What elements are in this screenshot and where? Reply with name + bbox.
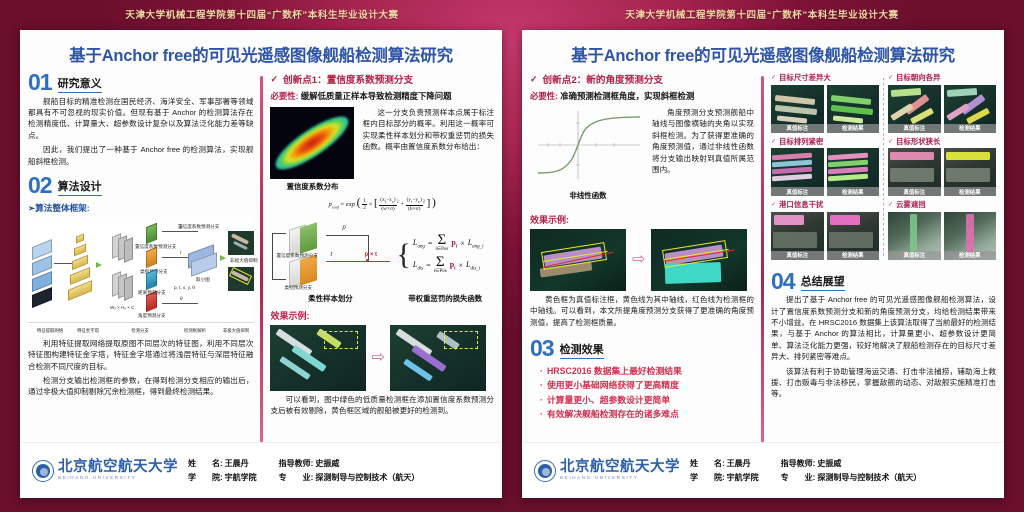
flow-caption: 柔性样本划分 [270, 293, 390, 304]
case-image-gt: 真值标注 [888, 85, 941, 133]
necessity-value: 缓解低质量正样本导致检测精度下降问题 [301, 91, 452, 101]
university-seal-icon [32, 460, 54, 482]
case-label: 真值标注 [888, 187, 941, 196]
architecture-diagram: 置信度系数预测分支 类别预测分支 距离预测分支 角度预测分支 Wₓ × Hₓ ×… [28, 217, 253, 335]
loss-sub-dis: i∈Pos [434, 268, 447, 274]
flow-label-p: p [342, 225, 345, 231]
student-name-key: 姓 名: [690, 458, 725, 469]
case-image-pair: 真值标注 检测结果 [771, 148, 879, 196]
student-name-key: 姓 名: [188, 458, 223, 469]
major-value: 探测制导与控制技术（航天） [817, 472, 921, 483]
innovation-2-effect-text: 黄色框为真值标注框，黄色线为其中轴线，红色线为检测框的中轴线。可以看到，本文所提… [530, 294, 754, 328]
arch-conv-upper-3 [124, 237, 133, 263]
loss-row-dis: Ldis = Σ i∈Pos pi × Ldis_i [413, 257, 484, 274]
case-label: 检测结果 [827, 187, 880, 196]
arch-arrow-2 [220, 255, 226, 261]
arch-stage-label-1: 特征提取网络 [28, 328, 72, 334]
advisor-value: 史振威 [817, 458, 841, 469]
major-row: 专 业: 探测制导与控制技术（航天） [279, 472, 420, 483]
advisor-key: 指导教师: [781, 458, 816, 469]
banner-right: 天津大学机械工程学院第十四届“广数杯”本科生毕业设计大赛 [514, 0, 1010, 28]
left-column-a: 01 研究意义 舰船目标的精准检测在国民经济、海洋安全、军事部署等领域都具有不可… [28, 72, 253, 454]
flow-line-pt [326, 261, 390, 262]
major-value: 探测制导与控制技术（航天） [315, 472, 419, 483]
innovation-1-formulas: 置信度系数预测分支 类别预测分支 p t p × t [270, 219, 494, 304]
student-college-key: 学 院: [188, 472, 223, 483]
case-label: 真值标注 [771, 187, 824, 196]
innovation-1-necessity: 必要性: 缓解低质量正样本导致检测精度下降问题 [270, 90, 494, 102]
case-title: 目标朝向各异 [896, 72, 940, 83]
section-01-paragraph-1: 舰船目标的精准检测在国民经济、海洋安全、军事部署等领域都具有不可忽视的现实价值。… [28, 96, 253, 142]
case-image-pair: 真值标注 检测结果 [888, 148, 996, 196]
student-college-row: 学 院: 宇航学院 [188, 472, 257, 483]
loss-caption: 带权重惩罚的损失函数 [396, 293, 494, 304]
university-seal-icon [534, 460, 556, 482]
arch-branch-label-dis: 距离预测分支 [138, 290, 166, 296]
left-column-b: ✓ 创新点1：置信度系数预测分支 必要性: 缓解低质量正样本导致检测精度下降问题… [270, 72, 494, 454]
case-header: ✓ 云雾遮挡 [888, 199, 996, 210]
arch-stage-label-3: 检测分支 [118, 328, 162, 334]
flow-label-t: t [330, 252, 332, 258]
section-01-number: 01 [28, 72, 52, 93]
advisor-row: 指导教师: 史振威 [781, 458, 922, 469]
section-02-name: 算法设计 [58, 178, 102, 196]
advisor-key: 指导教师: [279, 458, 314, 469]
loss-row-ang: Lang = Σ i∈Pos pi × Lang_i [413, 235, 484, 252]
case-title: 港口信息干扰 [779, 199, 823, 210]
flow-slab-conf [300, 222, 317, 254]
sigmoid-figure-wrap: 非线性函数 [530, 107, 646, 201]
effect-before-image-1 [270, 325, 366, 391]
case-grid-dotted-divider [883, 78, 884, 257]
necessity-key: 必要性: [530, 91, 558, 101]
section-04-name: 总结展望 [801, 273, 845, 291]
case-slot-cloud: ✓ 云雾遮挡 真值标注 检测结果 [888, 199, 996, 260]
arch-stage-label-2: 特征金字塔 [68, 328, 108, 334]
arch-line-in [54, 263, 72, 264]
case-label: 检测结果 [827, 124, 880, 133]
arch-param-t: t [180, 250, 181, 255]
university-logo: 北京航空航天大学 BEIHANG UNIVERSITY [32, 460, 178, 482]
check-icon: ✓ [771, 74, 776, 81]
check-icon: ✓ [888, 138, 893, 145]
arch-nms-label: 非极大值抑制 [230, 258, 258, 264]
innovation-2-paragraph: 角度预测分支预测舰船中轴线与图像横轴的夹角以实现斜框检测。为了获得更准确的角度预… [652, 107, 754, 175]
heatmap-blob [270, 108, 354, 178]
innovation-1-title: 创新点1：置信度系数预测分支 [283, 72, 413, 86]
poster-right-title: 基于Anchor free的可见光遥感图像舰船检测算法研究 [532, 42, 994, 66]
innovation-1-effect-images: ⇨ [270, 325, 494, 391]
case-label: 检测结果 [944, 124, 997, 133]
section-02-paragraph-2: 检测分支输出检测框的参数，在得到检测分支相应的输出后，通过非极大值抑制剔除冗余检… [28, 375, 253, 398]
check-icon: ✓ [530, 74, 538, 85]
list-item: HRSC2016 数据集上最好检测结果 [540, 364, 754, 379]
poster-right-columns: ✓ 创新点2：新的角度预测分支 必要性: 准确预测检测框角度，实现斜框检测 [522, 72, 1004, 454]
major-key: 专 业: [781, 472, 816, 483]
case-image-pair: 真值标注 检测结果 [888, 85, 996, 133]
section-02-subheading: ➢算法整体框架: [28, 202, 253, 214]
case-header: ✓ 目标排列紧密 [771, 136, 879, 147]
section-04-paragraph-1: 提出了基于 Anchor free 的可见光遥感图像舰船检测算法，设计了置信度系… [771, 294, 996, 362]
section-01-header: 01 研究意义 [28, 72, 253, 93]
case-header: ✓ 目标尺寸差异大 [771, 72, 879, 83]
case-image-det: 检测结果 [827, 85, 880, 133]
case-header: ✓ 港口信息干扰 [771, 199, 879, 210]
student-meta: 姓 名: 王晨丹 学 院: 宇航学院 指导教师: 史振威 专 业: [188, 456, 419, 486]
case-slot-slender: ✓ 目标形状狭长 真值标注 [888, 136, 996, 197]
necessity-value: 准确预测检测框角度，实现斜框检测 [560, 91, 694, 101]
effect-before-image-2 [530, 229, 626, 291]
advisor-row: 指导教师: 史振威 [279, 458, 420, 469]
flex-sample-split-figure: 置信度系数预测分支 类别预测分支 p t p × t [270, 219, 396, 291]
loss-formula-wrap: { Lang = Σ i∈Pos pi × Lang_i [396, 219, 494, 304]
case-title: 目标形状狭长 [896, 136, 940, 147]
flow-bracket-top [272, 233, 286, 234]
brace-icon: { [396, 246, 410, 264]
student-meta-col-2: 指导教师: 史振威 专 业: 探测制导与控制技术（航天） [781, 456, 922, 486]
left-poster-divider [260, 76, 263, 444]
left-footer: 北京航空航天大学 BEIHANG UNIVERSITY 姓 名: 王晨丹 学 院… [20, 442, 502, 498]
poster-left-columns: 01 研究意义 舰船目标的精准检测在国民经济、海洋安全、军事部署等领域都具有不可… [20, 72, 502, 454]
section-01-name: 研究意义 [58, 75, 102, 93]
case-image-gt: 真值标注 [771, 148, 824, 196]
right-column-a: ✓ 创新点2：新的角度预测分支 必要性: 准确预测检测框角度，实现斜框检测 [530, 72, 754, 454]
flex-sample-split-wrap: 置信度系数预测分支 类别预测分支 p t p × t [270, 219, 390, 304]
case-grid-col-right: ✓ 目标朝向各异 真值标注 [888, 72, 996, 263]
arch-line-theta [162, 303, 198, 304]
case-title: 目标尺寸差异大 [779, 72, 831, 83]
case-grid-col-left: ✓ 目标尺寸差异大 真值标注 [771, 72, 879, 263]
check-icon: ✓ [270, 74, 278, 85]
check-icon: ✓ [771, 138, 776, 145]
innovation-2-effect-label: 效果示例: [530, 213, 754, 226]
section-03-bullets: HRSC2016 数据集上最好检测结果 使用更小基础网络获得了更高精度 计算量更… [540, 364, 754, 422]
arch-line-p [162, 231, 198, 232]
case-label: 真值标注 [888, 124, 941, 133]
case-image-pair: 真值标注 检测结果 [771, 85, 879, 133]
case-label: 真值标注 [771, 251, 824, 260]
arch-result-top [228, 231, 254, 255]
loss-equations: Lang = Σ i∈Pos pi × Lang_i Ldis = [413, 230, 484, 279]
innovation-1-text-wrap: 这一分支负责预测样本点属于标注框内目标部分的概率。利用这一概率可实现柔性样本划分… [362, 107, 494, 153]
heatmap-caption: 置信度系数分布 [270, 181, 354, 192]
innovation-2-header: ✓ 创新点2：新的角度预测分支 [530, 72, 754, 86]
loss-sub-ang: i∈Pos [435, 246, 448, 252]
banner-left: 天津大学机械工程学院第十四届“广数杯”本科生毕业设计大赛 [14, 0, 510, 28]
major-row: 专 业: 探测制导与控制技术（航天） [781, 472, 922, 483]
student-name-row: 姓 名: 王晨丹 [690, 458, 759, 469]
arrow-right-icon: ⇨ [371, 350, 384, 366]
student-college-value: 宇航学院 [727, 472, 759, 483]
arch-stage-label-5: 非极大值抑制 [214, 328, 258, 334]
poster-left-title: 基于Anchor free的可见光遥感图像舰船检测算法研究 [30, 42, 492, 66]
case-slot-dense: ✓ 目标排列紧密 真值标注 [771, 136, 879, 197]
section-03-header: 03 检测效果 [530, 338, 754, 359]
case-label: 检测结果 [944, 187, 997, 196]
flow-label-pt: p × t [364, 252, 377, 258]
university-name: 北京航空航天大学 BEIHANG UNIVERSITY [58, 460, 178, 480]
effect-after-image-1 [390, 325, 486, 391]
section-02-number: 02 [28, 175, 52, 196]
section-04-paragraph-2: 该算法有利于协助管理海运交通、打击非法捕捞，辅助海上救援、打击贩毒与非法移民，掌… [771, 366, 996, 400]
innovation-1-paragraph: 这一分支负责预测样本点属于标注框内目标部分的概率。利用这一概率可实现柔性样本划分… [362, 107, 494, 153]
innovation-2-text-wrap: 角度预测分支预测舰船中轴线与图像横轴的夹角以实现斜框检测。为了获得更准确的角度预… [652, 107, 754, 175]
student-meta: 姓 名: 王晨丹 学 院: 宇航学院 指导教师: 史振威 专 业: [690, 456, 921, 486]
right-footer: 北京航空航天大学 BEIHANG UNIVERSITY 姓 名: 王晨丹 学 院… [522, 442, 1004, 498]
arch-param-theta: θ [180, 296, 183, 301]
case-image-pair: 真值标注 检测结果 [888, 212, 996, 260]
innovation-2-body: 非线性函数 角度预测分支预测舰船中轴线与图像横轴的夹角以实现斜框检测。为了获得更… [530, 107, 754, 201]
poster-stage: 天津大学机械工程学院第十四届“广数杯”本科生毕业设计大赛 天津大学机械工程学院第… [0, 0, 1024, 512]
arch-branch-label-ang: 角度预测分支 [138, 313, 166, 319]
arch-branch-label-conf: 置信度系数预测分支 [135, 244, 176, 250]
innovation-2-effect-images: ⇨ [530, 229, 754, 291]
case-image-det: 检测结果 [944, 85, 997, 133]
university-logo: 北京航空航天大学 BEIHANG UNIVERSITY [534, 460, 680, 482]
arch-stage-strip [28, 322, 253, 323]
nonlinear-function-curve [530, 107, 646, 183]
student-college-row: 学 院: 宇航学院 [690, 472, 759, 483]
innovation-1-body: 置信度系数分布 这一分支负责预测样本点属于标注框内目标部分的概率。利用这一概率可… [270, 107, 494, 192]
arch-stage-label-4: 检测框解析 [173, 328, 217, 334]
flow-label-conf: 置信度系数预测分支 [276, 253, 317, 259]
arch-pyramid-1 [76, 233, 84, 243]
right-poster-divider [761, 76, 764, 444]
effect-after-image-2 [651, 229, 747, 291]
case-image-det: 检测结果 [944, 148, 997, 196]
case-image-det: 检测结果 [827, 212, 880, 260]
right-column-b: ✓ 目标尺寸差异大 真值标注 [771, 72, 996, 454]
university-name-cn: 北京航空航天大学 [560, 460, 680, 475]
confidence-formula: pconf = exp ( 12 × [ (xi−xc)(w×σ)2 + (yi… [270, 195, 494, 212]
university-name-en: BEIHANG UNIVERSITY [560, 476, 680, 481]
case-slot-size: ✓ 目标尺寸差异大 真值标注 [771, 72, 879, 133]
case-image-det: 检测结果 [827, 148, 880, 196]
poster-right: 基于Anchor free的可见光遥感图像舰船检测算法研究 ✓ 创新点2：新的角… [522, 30, 1004, 498]
check-icon: ✓ [888, 74, 893, 81]
section-01-paragraph-2: 因此，我们提出了一种基于 Anchor free 的检测算法，实现舰船斜框检测。 [28, 144, 253, 167]
innovation-1-effect-label: 效果示例: [270, 309, 494, 322]
case-grid: ✓ 目标尺寸差异大 真值标注 [771, 72, 996, 263]
university-name-cn: 北京航空航天大学 [58, 460, 178, 475]
case-image-gt: 真值标注 [771, 85, 824, 133]
check-icon: ✓ [888, 201, 893, 208]
heatmap-figure-wrap: 置信度系数分布 [270, 107, 354, 192]
section-04-number: 04 [771, 271, 795, 292]
student-meta-col-2: 指导教师: 史振威 专 业: 探测制导与控制技术（航天） [279, 456, 420, 486]
arch-branch-conf [146, 222, 157, 243]
case-label: 检测结果 [944, 251, 997, 260]
arch-param-p: p [180, 224, 183, 229]
arch-label-p: 置信度系数预测分支 [178, 224, 219, 230]
case-slot-orientation: ✓ 目标朝向各异 真值标注 [888, 72, 996, 133]
case-header: ✓ 目标形状狭长 [888, 136, 996, 147]
section-03-name: 检测效果 [560, 341, 604, 359]
case-title: 云雾遮挡 [896, 199, 926, 210]
flow-label-cls: 类别预测分支 [284, 285, 312, 291]
innovation-2-title: 创新点2：新的角度预测分支 [543, 72, 663, 86]
university-name-en: BEIHANG UNIVERSITY [58, 476, 178, 481]
student-college-key: 学 院: [690, 472, 725, 483]
case-image-gt: 真值标注 [888, 212, 941, 260]
section-04-header: 04 总结展望 [771, 271, 996, 292]
section-02-paragraph-1: 利用特征提取网络提取原图不同层次的特征图，利用不同层次特征图构建特征金字塔，特征… [28, 338, 253, 372]
poster-left: 基于Anchor free的可见光遥感图像舰船检测算法研究 01 研究意义 舰船… [20, 30, 502, 498]
arch-result-bottom [228, 267, 254, 291]
major-key: 专 业: [279, 472, 314, 483]
case-image-gt: 真值标注 [888, 148, 941, 196]
innovation-1-header: ✓ 创新点1：置信度系数预测分支 [270, 72, 494, 86]
student-meta-col-1: 姓 名: 王晨丹 学 院: 宇航学院 [188, 456, 257, 486]
university-name: 北京航空航天大学 BEIHANG UNIVERSITY [560, 460, 680, 480]
case-slot-port: ✓ 港口信息干扰 真值标注 [771, 199, 879, 260]
list-item: 计算量更小、超参数设计更简单 [540, 393, 754, 408]
sigmoid-caption: 非线性函数 [530, 190, 646, 201]
case-image-pair: 真值标注 检测结果 [771, 212, 879, 260]
advisor-value: 史振威 [315, 458, 339, 469]
flow-bracket [272, 233, 273, 279]
section-03-number: 03 [530, 338, 554, 359]
student-name-value: 王晨丹 [225, 458, 249, 469]
innovation-1-effect-text: 可以看到，图中绿色的低质量检测框在添加置信度系数预测分支后被有效剔除，黄色框区域… [270, 394, 494, 417]
necessity-key: 必要性: [270, 91, 298, 101]
section-02-header: 02 算法设计 [28, 175, 253, 196]
list-item: 有效解决舰船检测存在的诸多难点 [540, 407, 754, 422]
student-college-value: 宇航学院 [225, 472, 257, 483]
case-image-det: 检测结果 [944, 212, 997, 260]
loss-formula: { Lang = Σ i∈Pos pi × Lang_i [396, 219, 494, 291]
student-meta-col-1: 姓 名: 王晨丹 学 院: 宇航学院 [690, 456, 759, 486]
arch-param-list: p, t, x, y, θ [174, 285, 195, 290]
arch-decode-label: 取小图 [196, 277, 210, 283]
arch-branch-dis [146, 268, 157, 289]
case-label: 真值标注 [771, 124, 824, 133]
student-name-value: 王晨丹 [727, 458, 751, 469]
case-image-gt: 真值标注 [771, 212, 824, 260]
innovation-2-necessity: 必要性: 准确预测检测框角度，实现斜框检测 [530, 90, 754, 102]
flow-bracket-bottom [272, 279, 286, 280]
case-header: ✓ 目标朝向各异 [888, 72, 996, 83]
list-item: 使用更小基础网络获得了更高精度 [540, 378, 754, 393]
arch-pyramid-2 [74, 243, 86, 256]
arch-arrow-1 [96, 262, 102, 268]
arch-conv-lower-3 [124, 275, 133, 301]
case-title: 目标排列紧密 [779, 136, 823, 147]
check-icon: ✓ [771, 201, 776, 208]
arrow-right-icon: ⇨ [632, 252, 645, 268]
student-name-row: 姓 名: 王晨丹 [188, 458, 257, 469]
case-label: 真值标注 [888, 251, 941, 260]
flow-line-p [326, 235, 368, 236]
case-label: 检测结果 [827, 251, 880, 260]
arch-feature-shape: Wₓ × Hₓ × C [110, 305, 134, 310]
confidence-heatmap [270, 107, 354, 179]
